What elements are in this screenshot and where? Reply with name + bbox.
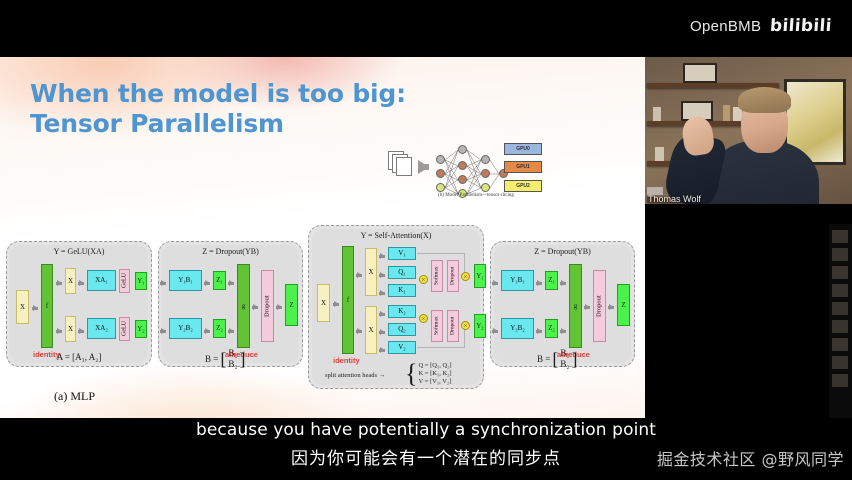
mlp-y2-out: Y₂ xyxy=(135,320,147,338)
wall-frame-small xyxy=(683,63,717,83)
attention-softmax-1: Softmax xyxy=(431,260,443,292)
attention-eq-left: Y = Self-Attention(X) xyxy=(309,231,483,240)
attention-y2-out: Y₂ xyxy=(474,314,486,338)
attention-z2-block: Z₂ xyxy=(545,319,558,338)
mlp-input-x: X xyxy=(16,290,29,324)
subtitle-english: because you have potentially a synchroni… xyxy=(0,420,852,440)
mlp-figure-caption: (a) MLP xyxy=(54,389,95,404)
attention-z-output: Z xyxy=(617,284,630,326)
speaker-webcam: Thomas Wolf xyxy=(645,57,852,224)
mlp-dropout-panel: Z = Dropout(YB) Y₁B₁ Y₂B₂ Z₁ Z₂ g allred… xyxy=(158,241,303,367)
attention-y1b1-block: Y₁B₁ xyxy=(501,270,534,291)
attention-B-row-1: B₁ xyxy=(560,348,569,359)
attention-softmax-2: Softmax xyxy=(431,310,443,342)
mlp-x-branch-2: X xyxy=(65,316,76,342)
attention-q1-block: Q₁ xyxy=(388,266,416,279)
attention-matmul-op-1: × xyxy=(419,275,428,284)
flow-arrow-icon xyxy=(418,160,429,174)
neural-network-graphic xyxy=(436,139,508,201)
presentation-slide: When the model is too big: Tensor Parall… xyxy=(0,57,645,420)
attention-weighted-sum-op-1: × xyxy=(461,272,470,281)
mlp-forward-panel: Y = GeLU(XA) X f identity X X XA₁ XA₂ Ge… xyxy=(6,241,152,367)
speaker-name-label: Thomas Wolf xyxy=(648,194,701,204)
mlp-xa2-block: XA₂ xyxy=(87,318,116,339)
mlp-B-row-2: B₂ xyxy=(228,359,237,370)
model-parallelism-thumbnail: GPU0 GPU1 GPU2 (b) Model Parallelism—ten… xyxy=(388,135,563,207)
gpu0-chip: GPU0 xyxy=(504,143,542,155)
attention-x-branch-1: X xyxy=(365,248,377,296)
gpu1-chip: GPU1 xyxy=(504,161,542,173)
mlp-eq-right: Z = Dropout(YB) xyxy=(159,247,302,256)
attention-v2-block: V₂ xyxy=(388,341,416,354)
attention-weighted-sum-op-2: × xyxy=(461,321,470,330)
attention-q2-block: Q₂ xyxy=(388,323,416,336)
mlp-x-branch-1: X xyxy=(65,268,76,294)
attention-v1-skip-wire xyxy=(417,253,465,254)
attention-k-def: K = [K₁, K₂] xyxy=(418,370,451,378)
attention-k1-block: K₁ xyxy=(388,284,416,297)
mlp-gelu-1: GeLU xyxy=(119,269,130,293)
attention-eq-right: Z = Dropout(YB) xyxy=(491,247,634,256)
attention-dropout-panel: Z = Dropout(YB) Y₁B₁ Y₂B₂ Z₁ Z₂ g allred… xyxy=(490,241,635,367)
thumbnail-caption: (b) Model Parallelism—tensor slicing xyxy=(396,193,556,198)
slide-title: When the model is too big: Tensor Parall… xyxy=(30,79,406,138)
openbmb-label: OpenBMB xyxy=(690,18,761,35)
attention-B-head: B = xyxy=(537,354,550,364)
attention-f-operator: f xyxy=(342,246,354,354)
mlp-f-operator: f xyxy=(41,264,53,348)
attention-B-definition: B = [ B₁ B₂ ] xyxy=(537,348,577,371)
gpu2-chip: GPU2 xyxy=(504,180,542,192)
tensor-parallel-figures: Y = GeLU(XA) X f identity X X XA₁ XA₂ Ge… xyxy=(0,217,645,420)
attention-matmul-op-2: × xyxy=(419,314,428,323)
attention-q-def: Q = [Q₁, Q₂] xyxy=(418,362,451,370)
mlp-dropout-block: Dropout xyxy=(261,270,274,342)
attention-input-x: X xyxy=(317,284,330,322)
mlp-z2-block: Z₂ xyxy=(213,319,226,338)
mlp-y1-out: Y₁ xyxy=(135,272,147,290)
mlp-xa1-block: XA₁ xyxy=(87,270,116,291)
data-stack-icon xyxy=(388,151,414,177)
video-player-stage: OpenBMB bilibili When the model is too b… xyxy=(0,0,852,480)
slide-title-line1: When the model is too big: xyxy=(30,79,406,109)
attention-identity-label: identity xyxy=(333,356,360,365)
attention-B-row-2: B₂ xyxy=(560,359,569,370)
attention-x-branch-2: X xyxy=(365,306,377,354)
mlp-y2b2-block: Y₂B₂ xyxy=(169,318,202,339)
mlp-B-row-1: B₁ xyxy=(228,348,237,359)
slide-title-line2: Tensor Parallelism xyxy=(30,109,406,139)
attention-dropout-block: Dropout xyxy=(593,270,606,342)
channel-branding: OpenBMB bilibili xyxy=(690,16,832,36)
speaker-hair xyxy=(738,87,791,113)
attention-qkv-definitions: { Q = [Q₁, Q₂] K = [K₁, K₂] V = [V₁, V₂] xyxy=(405,362,452,386)
mlp-B-head: B = xyxy=(205,354,218,364)
attention-v-def: V = [V₁, V₂] xyxy=(418,378,451,386)
mlp-z1-block: Z₁ xyxy=(213,271,226,290)
community-watermark: 掘金技术社区 @野风同学 xyxy=(657,446,844,470)
mlp-eq-left: Y = GeLU(XA) xyxy=(7,247,151,256)
attention-z1-block: Z₁ xyxy=(545,271,558,290)
film-strip-decoration xyxy=(829,224,852,420)
attention-forward-panel: Y = Self-Attention(X) X f identity X X V… xyxy=(308,225,484,389)
webcam-filler-area xyxy=(645,224,852,420)
mlp-B-definition: B = [ B₁ B₂ ] xyxy=(205,348,245,371)
mlp-A-definition: A = [A₁, A₂] xyxy=(7,352,151,362)
mlp-gelu-2: GeLU xyxy=(119,317,130,341)
mlp-z-output: Z xyxy=(285,284,298,326)
attention-y2b2-block: Y₂B₂ xyxy=(501,318,534,339)
attention-dropout-2: Dropout xyxy=(447,310,459,342)
attention-v2-skip-wire xyxy=(417,347,465,348)
attention-k2-block: K₂ xyxy=(388,305,416,318)
mlp-g-allreduce-operator: g xyxy=(237,264,250,348)
attention-v1-block: V₁ xyxy=(388,247,416,260)
attention-g-allreduce-operator: g xyxy=(569,264,582,348)
attention-dropout-1: Dropout xyxy=(447,260,459,292)
subtitle-bar: because you have potentially a synchroni… xyxy=(0,418,852,480)
network-edges xyxy=(436,139,508,201)
mlp-y1b1-block: Y₁B₁ xyxy=(169,270,202,291)
attention-y1-out: Y₁ xyxy=(474,264,486,288)
attention-split-heads-note: split attention heads → xyxy=(325,372,385,379)
bilibili-logo: bilibili xyxy=(770,16,833,36)
